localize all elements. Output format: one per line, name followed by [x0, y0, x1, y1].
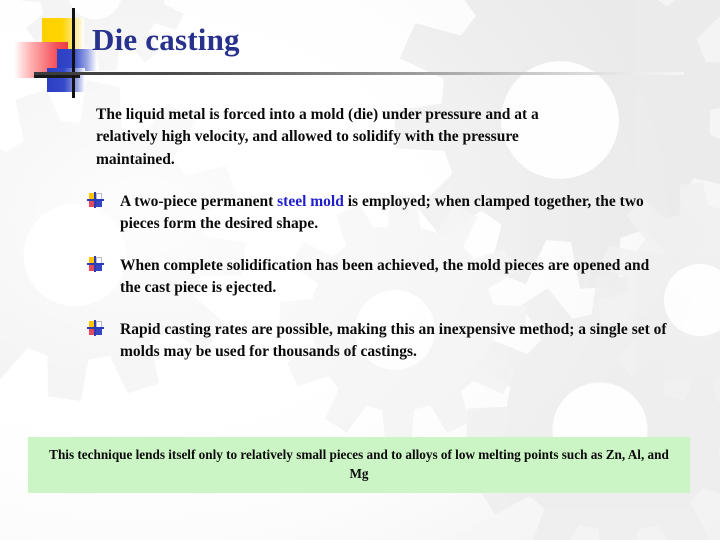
lead-paragraph: The liquid metal is forced into a mold (… [96, 104, 566, 171]
logo-vertical-bar [72, 8, 75, 98]
list-item: A two-piece permanent steel mold is empl… [96, 191, 672, 235]
bullet-vertical-bar [94, 256, 96, 272]
slide-body: The liquid metal is forced into a mold (… [96, 104, 672, 363]
list-item-text: Rapid casting rates are possible, making… [120, 321, 667, 360]
four-square-cross-icon [88, 257, 103, 272]
callout-text: This technique lends itself only to rela… [42, 446, 676, 483]
list-item-text: A two-piece permanent steel mold is empl… [120, 193, 644, 232]
title-divider [34, 72, 684, 75]
bullet-vertical-bar [94, 320, 96, 336]
bullet-blue-square [96, 200, 102, 207]
slide-canvas: Die casting The liquid metal is forced i… [0, 0, 720, 540]
four-square-cross-icon [88, 193, 103, 208]
bullet-blue-square [96, 328, 102, 335]
highlight-steel-mold: steel mold [277, 193, 344, 210]
list-item-text: When complete solidification has been ac… [120, 257, 649, 296]
list-item: When complete solidification has been ac… [96, 255, 672, 299]
bullet-blue-square [96, 264, 102, 271]
callout-box: This technique lends itself only to rela… [28, 437, 690, 493]
four-square-cross-icon [88, 321, 103, 336]
bullet-list: A two-piece permanent steel mold is empl… [96, 191, 672, 363]
page-title: Die casting [92, 22, 240, 58]
bullet-vertical-bar [94, 192, 96, 208]
list-item-text-part: A two-piece permanent [120, 193, 277, 210]
list-item: Rapid casting rates are possible, making… [96, 319, 672, 363]
